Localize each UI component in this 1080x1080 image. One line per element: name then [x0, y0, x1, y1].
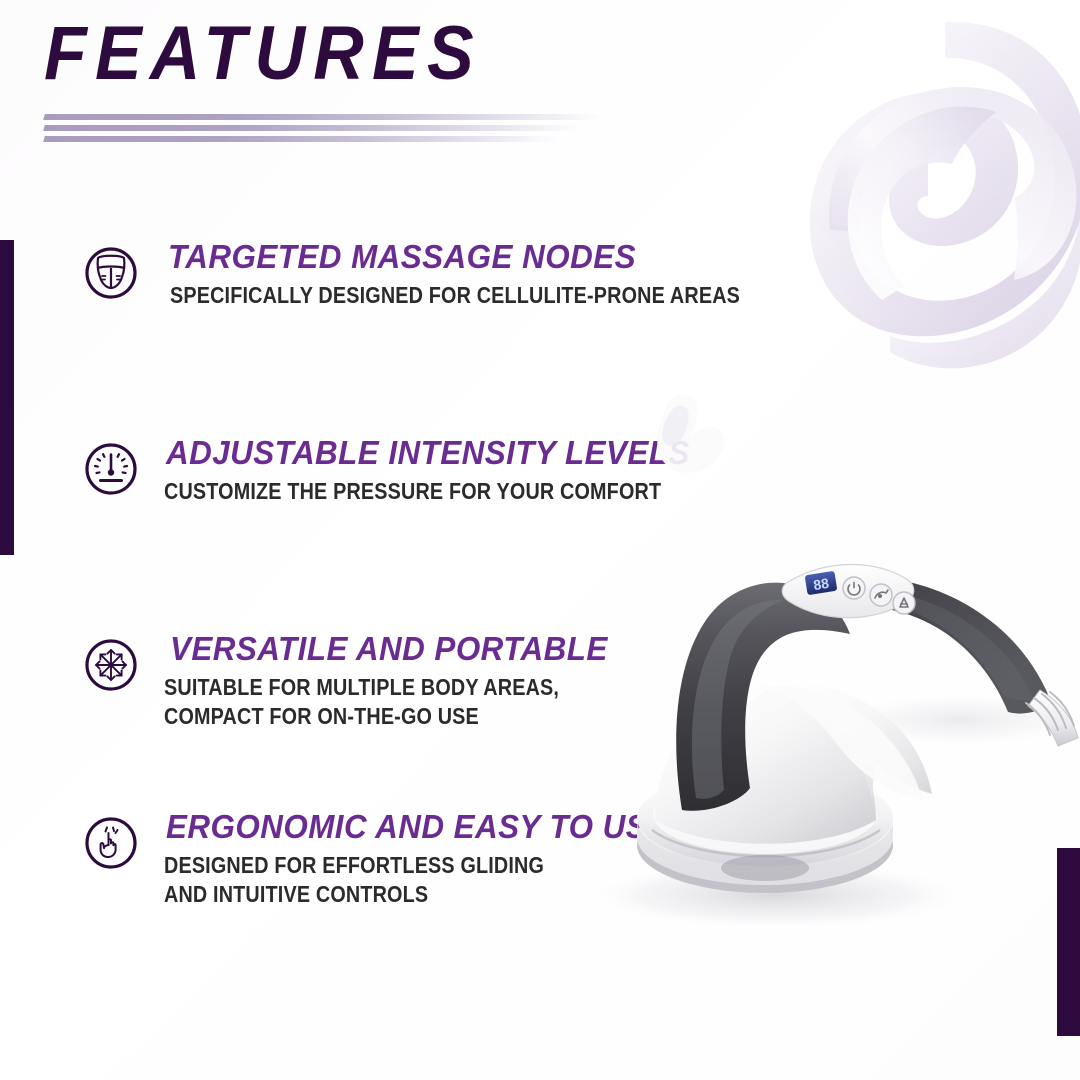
feature-subtitle-line: CUSTOMIZE THE PRESSURE FOR YOUR COMFORT — [164, 477, 646, 506]
title-rule-3 — [43, 136, 560, 142]
feature-item-versatile-and-portable: VERSATILE AND PORTABLE SUITABLE FOR MULT… — [84, 632, 724, 810]
ribbon-swirl-graphic — [770, 0, 1080, 430]
feature-subtitle-line: SPECIFICALLY DESIGNED FOR CELLULITE-PRON… — [170, 281, 646, 310]
power-button — [843, 577, 865, 599]
hand-tap-icon — [84, 816, 138, 870]
left-accent-bar — [0, 240, 14, 555]
features-infographic-poster: FEATURES TARGETED MASSAGE NODES — [0, 0, 1080, 1080]
feature-subtitle-line: DESIGNED FOR EFFORTLESS GLIDING — [164, 851, 646, 880]
feature-subtitle-line: COMPACT FOR ON-THE-GO USE — [164, 702, 646, 731]
feature-subtitle-line: AND INTUITIVE CONTROLS — [164, 880, 646, 909]
feature-item-adjustable-intensity-levels: ADJUSTABLE INTENSITY LEVELS CUSTOMIZE TH… — [84, 436, 724, 632]
title-rule-1 — [43, 114, 605, 120]
feature-heading: ERGONOMIC AND EASY TO USE — [166, 810, 696, 845]
speed-button — [893, 592, 915, 614]
feature-list: TARGETED MASSAGE NODES SPECIFICALLY DESI… — [84, 240, 724, 980]
page-title: FEATURES — [44, 18, 688, 90]
mode-button — [870, 584, 892, 606]
power-cord — [1026, 690, 1078, 746]
right-accent-bar — [1057, 848, 1080, 1036]
feature-heading: ADJUSTABLE INTENSITY LEVELS — [166, 436, 696, 471]
page-title-block: FEATURES — [44, 18, 744, 90]
feature-heading: TARGETED MASSAGE NODES — [168, 240, 696, 275]
lcd-display-value: 88 — [812, 575, 830, 593]
multi-direction-arrows-icon — [84, 638, 138, 692]
feature-heading: VERSATILE AND PORTABLE — [170, 632, 696, 667]
feature-subtitle: SUITABLE FOR MULTIPLE BODY AREAS, COMPAC… — [164, 673, 646, 732]
feature-subtitle: DESIGNED FOR EFFORTLESS GLIDING AND INTU… — [164, 851, 646, 910]
feature-item-ergonomic-and-easy-to-use: ERGONOMIC AND EASY TO USE DESIGNED FOR E… — [84, 810, 724, 980]
feature-item-targeted-massage-nodes: TARGETED MASSAGE NODES SPECIFICALLY DESI… — [84, 240, 724, 436]
title-rule-2 — [43, 125, 582, 131]
feature-subtitle: CUSTOMIZE THE PRESSURE FOR YOUR COMFORT — [164, 477, 646, 506]
gauge-speedometer-icon — [84, 442, 138, 496]
hips-body-icon — [84, 246, 138, 300]
title-underline-rules — [44, 114, 604, 147]
feature-subtitle: SPECIFICALLY DESIGNED FOR CELLULITE-PRON… — [170, 281, 646, 310]
feature-subtitle-line: SUITABLE FOR MULTIPLE BODY AREAS, — [164, 673, 646, 702]
